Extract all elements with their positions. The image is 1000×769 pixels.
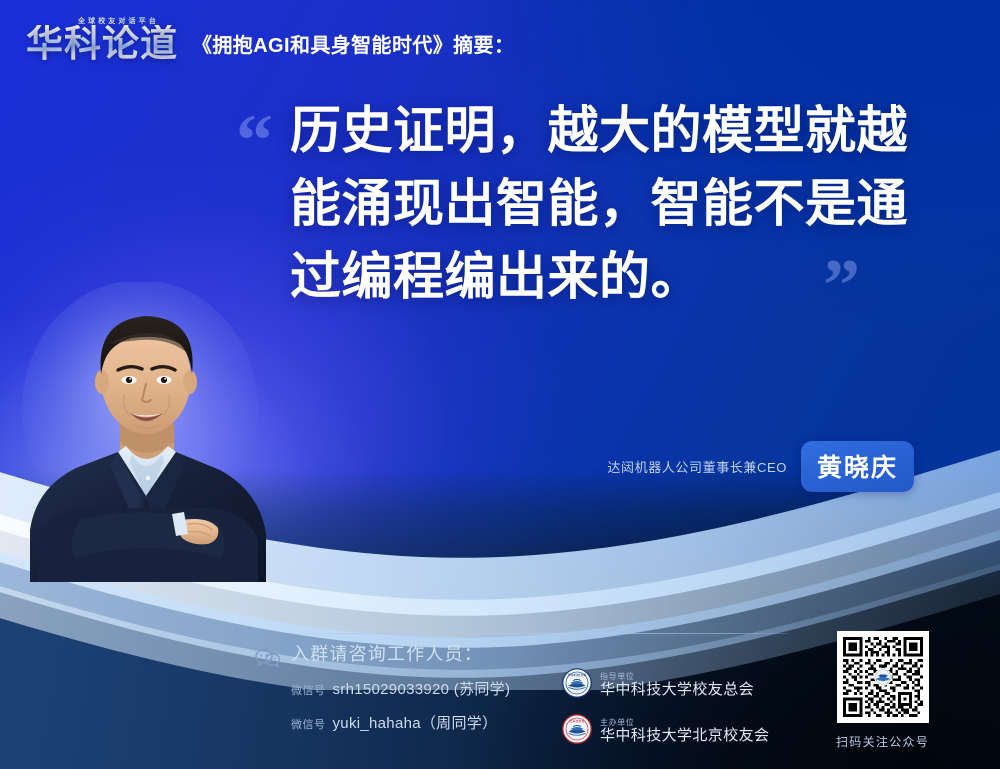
qr-code-icon[interactable] [837,631,929,723]
brand-logo: 全球校友对话平台 华科论道 [26,16,178,62]
hust-alumni-emblem-red-icon: 北京校友会 [562,714,592,749]
quote-block: “ 历史证明，越大的模型就越能涌现出智能，智能不是通过编程编出来的。 ” [236,96,936,315]
hust-alumni-emblem-blue-icon: 华中科技大学 [562,668,592,703]
wechat-icon [255,649,281,672]
contact-label: 微信号 [291,682,326,698]
page-title: 《拥抱AGI和具身智能时代》摘要： [192,29,514,62]
contact-label: 微信号 [291,716,326,732]
footer-divider [288,633,788,634]
speaker-portrait [22,282,278,582]
qr-code-block: 扫码关注公众号 [836,631,929,750]
svg-text:北京校友会: 北京校友会 [569,718,584,723]
organization-name: 华中科技大学校友总会 [600,682,754,699]
organization-text: 主办单位 华中科技大学北京校友会 [600,719,769,745]
organization-name: 华中科技大学北京校友会 [600,728,769,745]
speaker-attribution: 达闼机器人公司董事长兼CEO 黄晓庆 [607,441,914,492]
poster-canvas: 全球校友对话平台 华科论道 《拥抱AGI和具身智能时代》摘要： “ 历史证明，越… [0,0,1000,769]
organization-list: 华中科技大学 指导单位 华中科技大学校友总会 北京校友会 [562,668,769,749]
organization-row: 华中科技大学 指导单位 华中科技大学校友总会 [562,668,769,703]
svg-text:华中科技大学: 华中科技大学 [568,672,587,677]
brand-tagline: 全球校友对话平台 [78,16,159,26]
contact-value[interactable]: srh15029033920 (苏同学) [333,678,511,699]
contact-row: 微信号 srh15029033920 (苏同学) [291,678,510,699]
footer-text-column: 入群请咨询工作人员： 微信号 srh15029033920 (苏同学) 微信号 … [291,640,510,746]
footer-title: 入群请咨询工作人员： [291,640,510,666]
quote-text: 历史证明，越大的模型就越能涌现出智能，智能不是通过编程编出来的。 [236,96,936,315]
brand-logo-text: 华科论道 [26,25,178,62]
contact-row: 微信号 yuki_hahaha（周同学） [291,712,510,733]
contact-value[interactable]: yuki_hahaha（周同学） [333,712,498,733]
footer-contact-block: 入群请咨询工作人员： 微信号 srh15029033920 (苏同学) 微信号 … [255,640,510,746]
organization-row: 北京校友会 主办单位 华中科技大学北京校友会 [562,714,769,749]
organization-text: 指导单位 华中科技大学校友总会 [600,673,754,699]
speaker-role: 达闼机器人公司董事长兼CEO [607,457,787,476]
poster-header: 全球校友对话平台 华科论道 《拥抱AGI和具身智能时代》摘要： [26,16,514,62]
speaker-name-badge: 黄晓庆 [801,441,914,492]
qr-caption: 扫码关注公众号 [836,733,929,750]
